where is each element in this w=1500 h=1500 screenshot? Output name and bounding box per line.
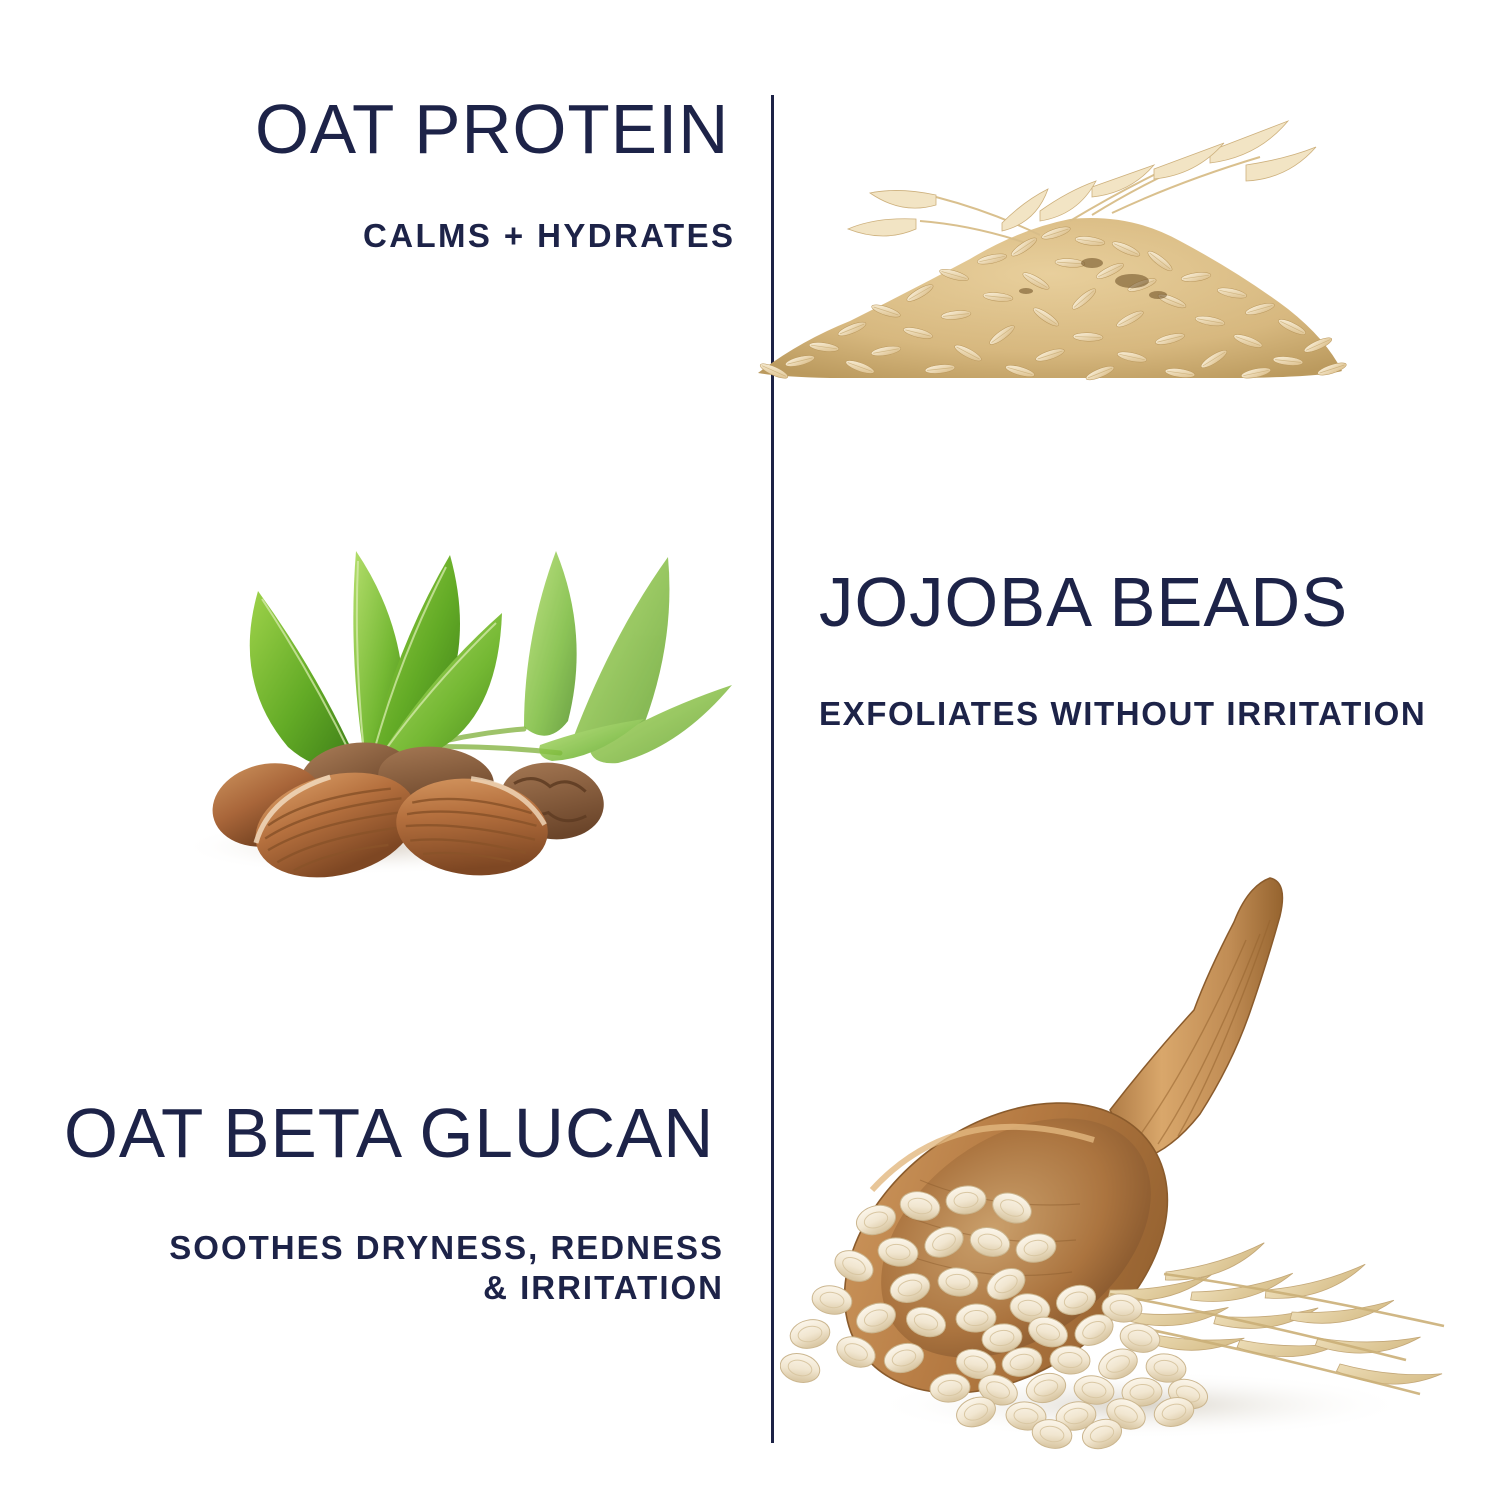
oat-beta-glucan-subtitle-line-2: & IRRITATION [0,1268,724,1308]
oat-beta-glucan-subtitle-line-1: SOOTHES DRYNESS, REDNESS [0,1228,724,1268]
oat-beta-glucan-title: OAT BETA GLUCAN [64,1098,714,1168]
oat-grains-pile-image [740,95,1360,395]
oat-beta-glucan-subtitle: SOOTHES DRYNESS, REDNESS & IRRITATION [0,1228,724,1309]
jojoba-beads-title: JOJOBA BEADS [819,567,1348,637]
jojoba-seeds-leaves-image [120,495,780,885]
oat-protein-title: OAT PROTEIN [255,94,729,164]
jojoba-beads-subtitle: EXFOLIATES WITHOUT IRRITATION [819,694,1426,734]
ingredient-benefits-infographic: OAT PROTEIN CALMS + HYDRATES [0,0,1500,1500]
oat-protein-subtitle: CALMS + HYDRATES [363,216,735,256]
oat-scoop-flakes-image [780,860,1480,1450]
